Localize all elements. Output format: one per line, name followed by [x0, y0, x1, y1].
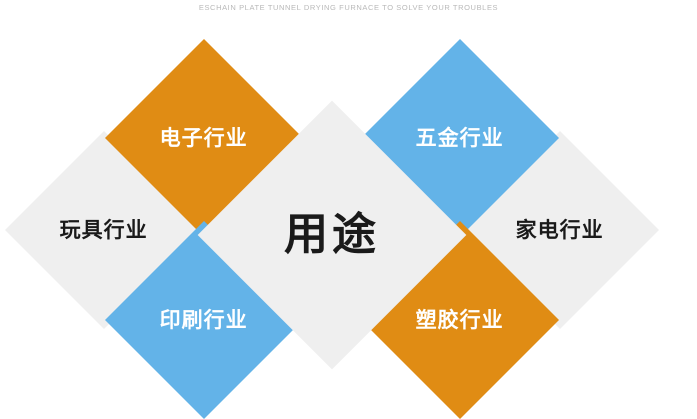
diagram-canvas: ESCHAIN PLATE TUNNEL DRYING FURNACE TO S…	[0, 0, 697, 414]
diamond-label-printing: 印刷行业	[160, 310, 248, 331]
diamond-label-electronics: 电子行业	[160, 128, 248, 149]
top-banner: ESCHAIN PLATE TUNNEL DRYING FURNACE TO S…	[0, 0, 697, 18]
diamond-label-toys: 玩具行业	[60, 220, 148, 241]
diamond-label-plastics: 塑胶行业	[416, 310, 504, 331]
diamond-label-hardware: 五金行业	[416, 128, 504, 149]
diamond-label-appliances: 家电行业	[516, 220, 604, 241]
banner-text: ESCHAIN PLATE TUNNEL DRYING FURNACE TO S…	[0, 3, 697, 12]
diamond-label-purpose: 用途	[284, 213, 380, 257]
